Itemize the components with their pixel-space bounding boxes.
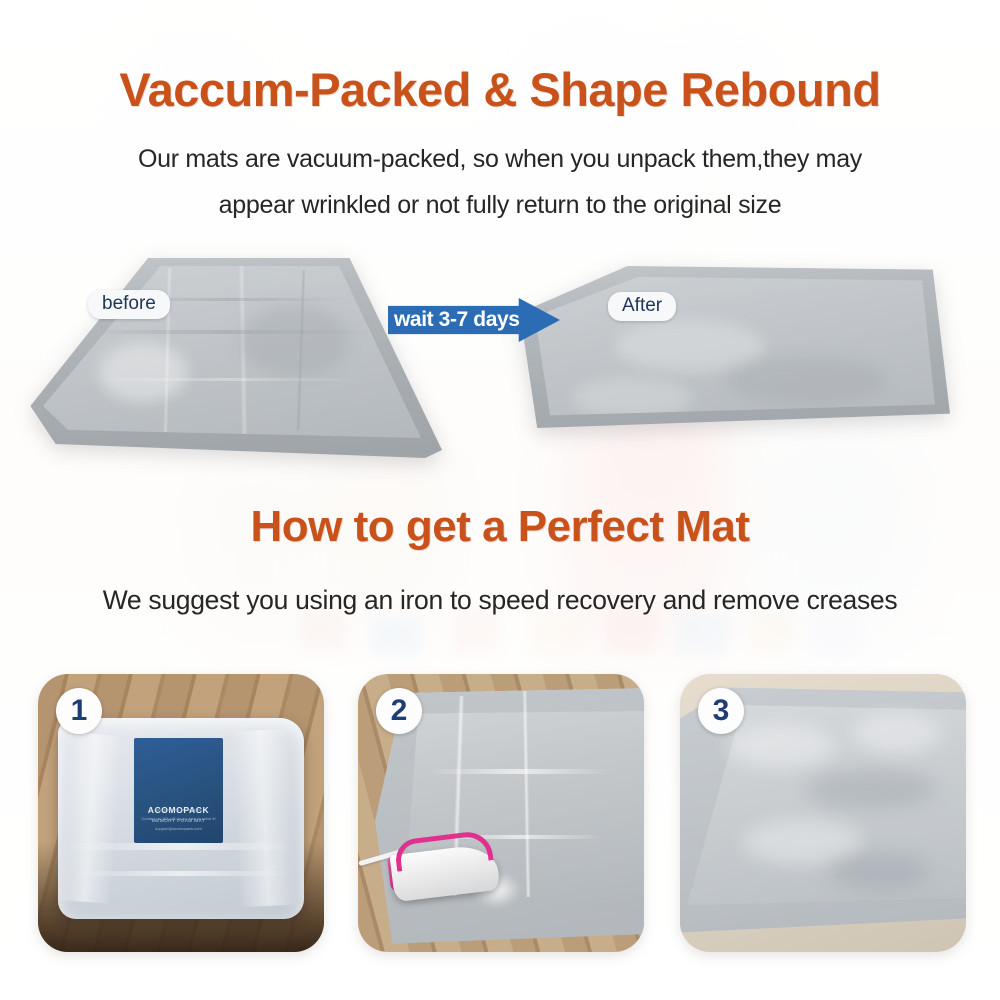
label-after: After (608, 292, 676, 321)
step-badge-1: 1 (56, 688, 102, 734)
product-label-note-3: support@acomopack.com (141, 826, 215, 832)
step-badge-2: 2 (376, 688, 422, 734)
mat-photo-before (22, 258, 442, 458)
mat-texture-patch (98, 342, 188, 402)
mat-shape-after (520, 266, 950, 446)
mat-plush-texture (852, 713, 942, 753)
mat-plush-texture (726, 724, 836, 768)
mat-plush-texture (806, 769, 936, 809)
plastic-sheen (57, 733, 123, 904)
subtitle-vacuum-line-2: appear wrinkled or not fully return to t… (0, 191, 1000, 220)
step-badge-3: 3 (698, 688, 744, 734)
wait-arrow-label: wait 3-7 days (388, 308, 520, 332)
mat-inner-face (22, 258, 442, 458)
product-label-note-1: Any questions or concerns, (141, 807, 215, 813)
subtitle-vacuum-line-1: Our mats are vacuum-packed, so when you … (0, 145, 1000, 174)
step-panels: ACOMOPACK MEMORY FOAM MAT Any questions … (0, 674, 1000, 954)
plastic-fold (73, 871, 289, 876)
mat-texture-patch (240, 306, 350, 376)
mat-crease (427, 769, 610, 774)
product-label-note-2: Contact us! We will do our best to solve… (141, 816, 215, 822)
step-panel-3: 3 (680, 674, 966, 952)
before-after-comparison (0, 248, 1000, 468)
mat-texture-patch (726, 356, 886, 404)
mat-plush-texture (829, 852, 929, 890)
headline-perfect-mat: How to get a Perfect Mat (0, 502, 1000, 552)
step-panel-1: ACOMOPACK MEMORY FOAM MAT Any questions … (38, 674, 324, 952)
mat-shape-before (22, 258, 442, 458)
mat-photo-after (520, 266, 950, 446)
product-label: ACOMOPACK MEMORY FOAM MAT Any questions … (134, 738, 223, 842)
mat-texture-patch (572, 378, 692, 418)
plastic-sheen (231, 729, 299, 908)
vacuum-sealed-package: ACOMOPACK MEMORY FOAM MAT Any questions … (58, 718, 304, 918)
step-panel-2: 2 (358, 674, 644, 952)
subtitle-iron-suggestion: We suggest you using an iron to speed re… (0, 585, 1000, 616)
label-before: before (88, 290, 170, 319)
headline-vacuum-packed: Vaccum-Packed & Shape Rebound (0, 62, 1000, 117)
plastic-fold (68, 843, 294, 850)
infographic-page: Vaccum-Packed & Shape Rebound Our mats a… (0, 0, 1000, 1000)
